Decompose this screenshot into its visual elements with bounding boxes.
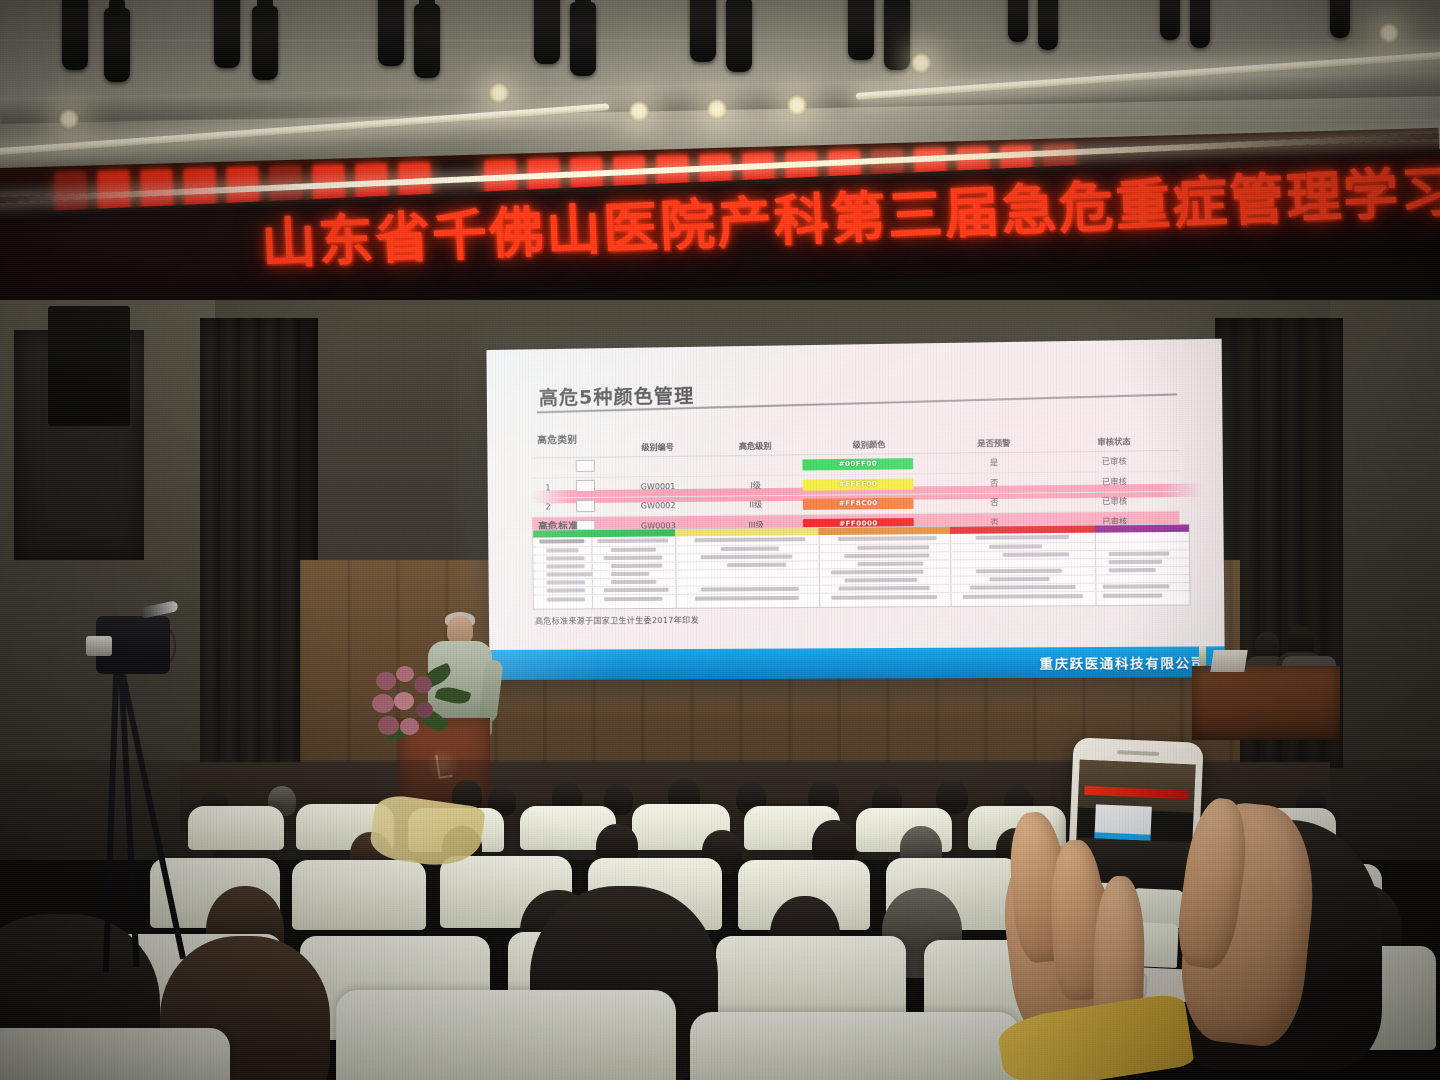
stage-spotlight-icon — [214, 0, 240, 68]
ceiling-panel-line — [0, 120, 1440, 121]
stage-spotlight-icon — [570, 2, 596, 76]
ceiling-downlight-icon — [706, 98, 728, 120]
cell-index: 1 — [532, 477, 565, 497]
stage-spotlight-icon — [104, 8, 130, 82]
th-state: 审核状态 — [1050, 434, 1179, 452]
cell-color: #00FF00 — [801, 453, 939, 475]
stage-spotlight-icon — [1008, 0, 1028, 42]
color-swatch-yellow: #FFFF00 — [803, 478, 914, 490]
slide-source-note: 高危标准来源于国家卫生计生委2017年印发 — [535, 615, 699, 627]
conference-hall-photo: 山东省千佛山医院产科第三届急危重症管理学习班 高危5种颜色管理 高危类别 级别编… — [0, 0, 1440, 1080]
cell-warn: 否 — [938, 492, 1050, 513]
head-table — [1192, 666, 1340, 740]
ceiling-downlight-icon — [628, 100, 650, 122]
wall-speaker-icon — [48, 306, 130, 426]
color-swatch-green: #00FF00 — [803, 458, 914, 470]
audience-chair — [188, 806, 284, 850]
stage-spotlight-icon — [726, 0, 752, 72]
cell-color: #FF8C00 — [801, 493, 939, 514]
ceiling-downlight-icon — [58, 108, 80, 130]
projection-screen: 高危5种颜色管理 高危类别 级别编号 高危级别 级别颜色 是否预警 审核状态 — [486, 339, 1225, 680]
laptop-icon — [1210, 650, 1247, 672]
stage-spotlight-icon — [534, 0, 560, 64]
stage-spotlight-icon — [1038, 0, 1058, 50]
high-risk-standard-table — [532, 524, 1191, 610]
cell-code: GW0002 — [606, 496, 711, 517]
cell-level: I级 — [710, 475, 800, 496]
cell-level — [710, 455, 800, 476]
standard-table-grid — [533, 532, 1189, 609]
ceiling-downlight-icon — [786, 94, 808, 116]
water-bottle-icon — [1199, 646, 1206, 666]
stage-spotlight-icon — [1190, 0, 1210, 48]
cell-color: #FFFF00 — [801, 473, 939, 494]
audience-chair — [690, 1012, 1020, 1080]
slide-title: 高危5种颜色管理 — [539, 381, 695, 410]
row-checkbox[interactable] — [575, 480, 594, 492]
color-swatch-orange: #FF8C00 — [803, 498, 914, 510]
cell-index — [531, 458, 564, 478]
row-checkbox[interactable] — [575, 460, 594, 472]
audience-chair — [336, 990, 676, 1080]
camera-lens-icon — [86, 636, 112, 656]
stage-spotlight-icon — [414, 4, 440, 78]
th-code: 级别编号 — [605, 439, 710, 457]
cell-code: GW0001 — [606, 476, 711, 497]
cell-check[interactable] — [564, 497, 606, 517]
stage-spotlight-icon — [252, 6, 278, 80]
flower-arrangement — [370, 662, 474, 750]
stage-spotlight-icon — [884, 0, 910, 70]
cell-warn: 否 — [938, 472, 1050, 493]
th-check — [564, 441, 605, 458]
cell-state: 已审核 — [1050, 450, 1179, 472]
slide-footer-bar: 重庆跃医通科技有限公司 — [489, 646, 1225, 680]
stage-spotlight-icon — [690, 0, 716, 62]
th-index — [531, 441, 564, 458]
cell-state: 已审核 — [1050, 491, 1179, 512]
phone-earpiece-icon — [1117, 750, 1159, 756]
cell-check[interactable] — [564, 477, 606, 497]
stage-spotlight-icon — [1160, 0, 1180, 40]
th-level: 高危级别 — [710, 438, 800, 456]
stage-spotlight-icon — [378, 0, 404, 66]
th-warn: 是否预警 — [938, 435, 1050, 453]
audience-chair — [292, 860, 426, 930]
cell-state: 已审核 — [1050, 471, 1179, 493]
ceiling-downlight-icon — [1378, 22, 1400, 44]
cell-warn: 是 — [938, 452, 1050, 473]
audience-chair — [0, 1028, 230, 1080]
ceiling-downlight-icon — [488, 82, 510, 104]
ceiling-downlight-icon — [910, 52, 932, 74]
th-color: 级别颜色 — [800, 437, 938, 455]
row-checkbox[interactable] — [575, 500, 594, 512]
slide-footer-company: 重庆跃医通科技有限公司 — [1039, 653, 1206, 673]
stage-spotlight-icon — [62, 0, 88, 70]
cell-code — [605, 456, 710, 477]
cell-check[interactable] — [564, 457, 606, 477]
stage-spotlight-icon — [848, 0, 874, 60]
cell-index: 2 — [532, 497, 565, 517]
stage-spotlight-icon — [1330, 0, 1350, 38]
cell-level: II级 — [711, 495, 801, 516]
